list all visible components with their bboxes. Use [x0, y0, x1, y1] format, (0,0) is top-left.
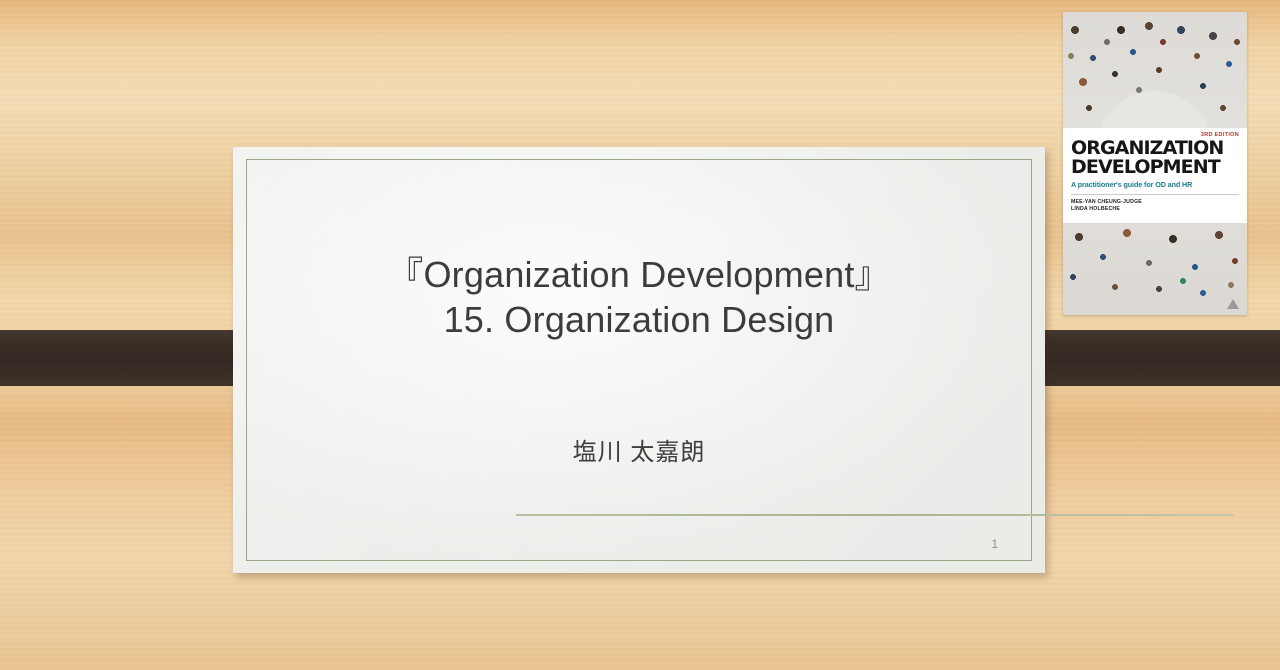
title-line-2: 15. Organization Design — [283, 297, 995, 342]
book-title-line-2: DEVELOPMENT — [1071, 158, 1239, 177]
title-line-1: 『Organization Development』 — [283, 252, 995, 297]
book-cover-photo-top — [1063, 12, 1247, 128]
theme-ribbon-left — [0, 330, 248, 386]
title-divider-rule — [516, 514, 1234, 516]
slide-title: 『Organization Development』 15. Organizat… — [283, 252, 995, 342]
slide-number: 1 — [991, 537, 998, 551]
slide-surface — [233, 147, 1045, 573]
book-cover-image: 3RD EDITION ORGANIZATION DEVELOPMENT A p… — [1063, 12, 1247, 315]
publisher-logo-icon — [1227, 299, 1239, 309]
theme-ribbon-right — [1026, 330, 1280, 386]
presentation-slide[interactable]: 『Organization Development』 15. Organizat… — [233, 147, 1045, 573]
book-author-line-2: LINDA HOLBECHE — [1071, 206, 1239, 213]
book-cover-divider — [1071, 194, 1239, 195]
book-author-line-1: MEE-YAN CHEUNG-JUDGE — [1071, 199, 1239, 206]
confetti-dots-arc — [1063, 12, 1247, 128]
confetti-dots-bottom — [1063, 223, 1247, 315]
book-cover-photo-bottom — [1063, 223, 1247, 315]
book-cover-text-panel: 3RD EDITION ORGANIZATION DEVELOPMENT A p… — [1063, 128, 1247, 223]
slide-subtitle-author: 塩川 太嘉朗 — [283, 432, 995, 467]
book-subtitle: A practitioner's guide for OD and HR — [1071, 180, 1239, 189]
